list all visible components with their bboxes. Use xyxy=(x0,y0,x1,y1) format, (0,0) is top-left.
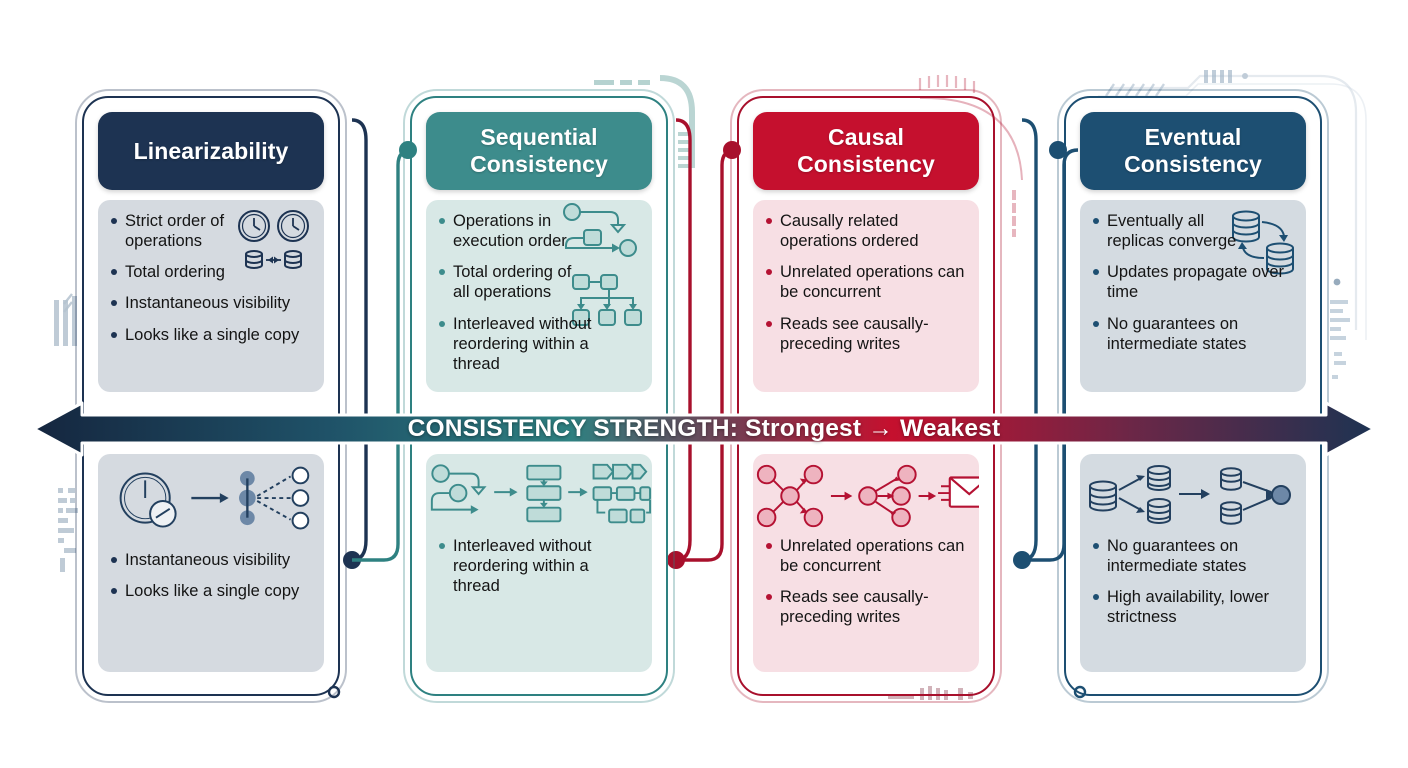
header-sequential-consistency: Sequential Consistency xyxy=(426,112,652,190)
bullet-list-top: Eventually all replicas converge Updates… xyxy=(1080,200,1306,369)
bullet-list-top: Operations in execution order Total orde… xyxy=(426,200,652,389)
bullet-item: Eventually all replicas converge xyxy=(1090,211,1252,251)
bullet-item: Instantaneous visibility xyxy=(108,293,312,313)
panel-top-eventual: Eventually all replicas converge Updates… xyxy=(1080,200,1306,392)
bullet-item: Strict order of operations xyxy=(108,211,250,251)
bullet-item: No guarantees on intermediate states xyxy=(1090,536,1294,576)
two-clocks-databases-icon xyxy=(232,204,318,292)
panel-bottom-causal: Unrelated operations can be concurrent R… xyxy=(753,454,979,672)
column-sequential-consistency[interactable]: Sequential Consistency xyxy=(410,96,668,696)
flowchart-nodes-icon xyxy=(560,202,646,260)
bullet-list-top: Strict order of operations Total orderin… xyxy=(98,200,324,360)
panel-bottom-eventual: No guarantees on intermediate states Hig… xyxy=(1080,454,1306,672)
panel-top-sequential: Operations in execution order Total orde… xyxy=(426,200,652,392)
column-linearizability[interactable]: Linearizability xyxy=(82,96,340,696)
bullet-list-bottom: No guarantees on intermediate states Hig… xyxy=(1080,532,1306,643)
header-linearizability: Linearizability xyxy=(98,112,324,190)
bullet-item: Unrelated operations can be concurrent xyxy=(763,262,967,302)
clock-timeline-branch-icon xyxy=(98,460,324,546)
bullet-item: Looks like a single copy xyxy=(108,581,312,601)
replicas-converge-icon xyxy=(1224,206,1300,278)
column-title: Sequential Consistency xyxy=(426,124,652,177)
interleaved-pipeline-icon xyxy=(426,460,652,532)
panel-bottom-sequential: Interleaved without reordering within a … xyxy=(426,454,652,672)
bullet-item: Causally related operations ordered xyxy=(763,211,967,251)
bullet-list-bottom: Instantaneous visibility Looks like a si… xyxy=(98,546,324,616)
bullet-item: Total ordering xyxy=(108,262,312,282)
bullet-item: Operations in execution order xyxy=(436,211,586,251)
bullet-item: Instantaneous visibility xyxy=(108,550,312,570)
bullet-item: Interleaved without reordering within a … xyxy=(436,314,640,374)
replica-propagation-icon xyxy=(1080,460,1306,532)
bullet-item: No guarantees on intermediate states xyxy=(1090,314,1294,354)
bullet-item: Total ordering of all operations xyxy=(436,262,588,302)
bullet-item: Interleaved without reordering within a … xyxy=(436,536,640,596)
column-causal-consistency[interactable]: Causal Consistency Causally related oper… xyxy=(737,96,995,696)
bullet-item: Updates propagate over time xyxy=(1090,262,1294,302)
column-title: Linearizability xyxy=(128,138,295,165)
connector-node xyxy=(1013,551,1031,569)
bullet-list-top: Causally related operations ordered Unre… xyxy=(753,200,979,369)
bullet-item: Reads see causally-preceding writes xyxy=(763,587,967,627)
bullet-item: Reads see causally-preceding writes xyxy=(763,314,967,354)
bullet-list-bottom: Interleaved without reordering within a … xyxy=(426,532,652,611)
causal-graph-message-icon xyxy=(753,460,979,532)
bullet-item: Unrelated operations can be concurrent xyxy=(763,536,967,576)
bullet-item: Looks like a single copy xyxy=(108,325,312,345)
column-title: Eventual Consistency xyxy=(1080,124,1306,177)
bullet-list-bottom: Unrelated operations can be concurrent R… xyxy=(753,532,979,643)
header-causal-consistency: Causal Consistency xyxy=(753,112,979,190)
bullet-item: High availability, lower strictness xyxy=(1090,587,1294,627)
panel-top-linearizability: Strict order of operations Total orderin… xyxy=(98,200,324,392)
column-title: Causal Consistency xyxy=(753,124,979,177)
header-eventual-consistency: Eventual Consistency xyxy=(1080,112,1306,190)
column-eventual-consistency[interactable]: Eventual Consistency xyxy=(1064,96,1322,696)
panel-bottom-linearizability: Instantaneous visibility Looks like a si… xyxy=(98,454,324,672)
panel-top-causal: Causally related operations ordered Unre… xyxy=(753,200,979,392)
hierarchy-tree-icon xyxy=(570,272,646,328)
consistency-models-diagram: Linearizability xyxy=(0,0,1408,768)
